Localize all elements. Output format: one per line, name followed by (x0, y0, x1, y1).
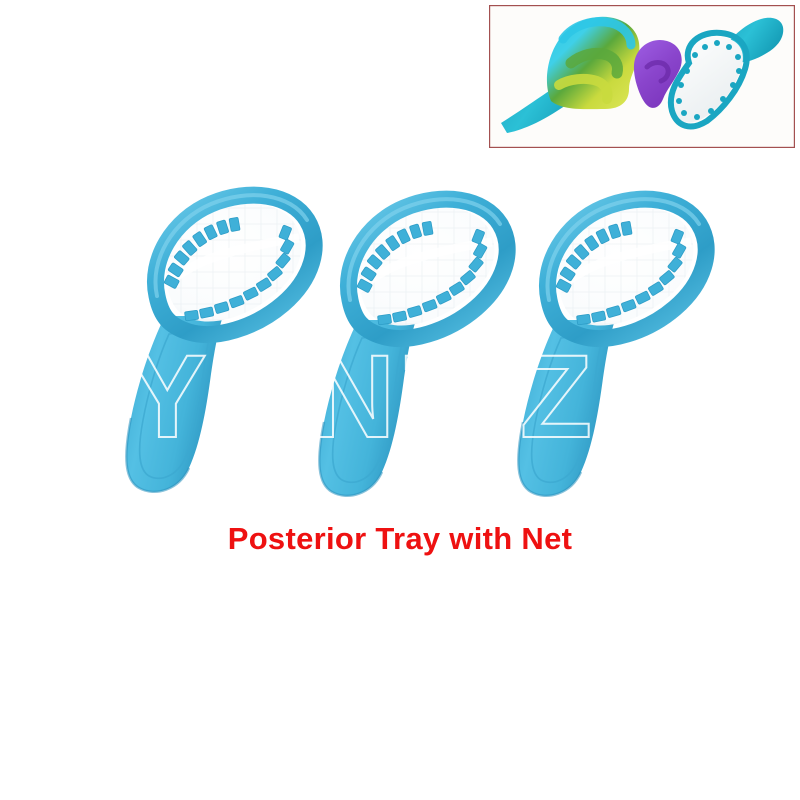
usage-example-inset[interactable] (489, 5, 795, 148)
inset-illustration (489, 5, 795, 148)
tray-illustration (487, 172, 727, 502)
impression-tray-3 (487, 172, 727, 502)
product-image-canvas: Y N Z Z (0, 0, 800, 800)
caption-text: Posterior Tray with Net (228, 521, 573, 556)
product-caption: Posterior Tray with Net (0, 521, 800, 557)
